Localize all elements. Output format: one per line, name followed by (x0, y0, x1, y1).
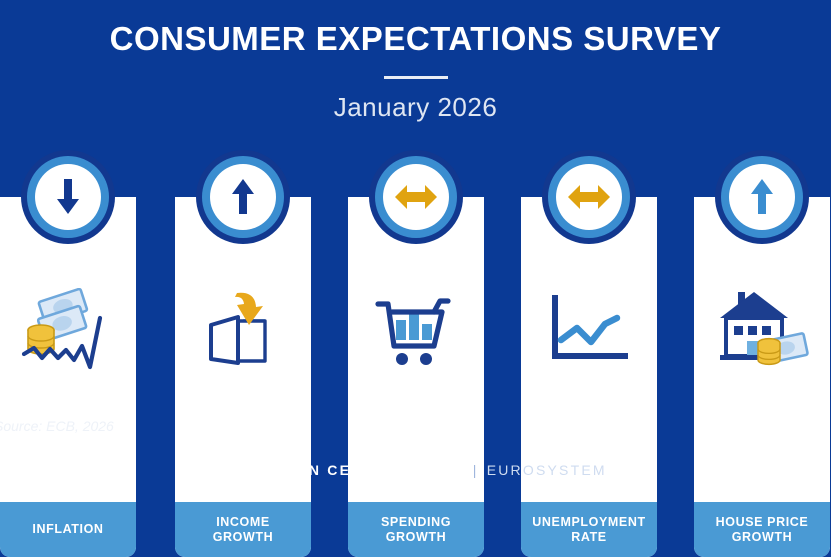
card-label-unemployment-rate: UNEMPLOYMENT RATE (521, 502, 657, 557)
card-label-line1: INFLATION (32, 522, 103, 537)
card-label-line2: GROWTH (213, 530, 274, 545)
badge-arrow-down (21, 150, 115, 244)
card-house-price-growth[interactable]: HOUSE PRICE GROWTH (694, 197, 830, 557)
card-label-spending-growth: SPENDING GROWTH (348, 502, 484, 557)
card-label-inflation: INFLATION (0, 502, 136, 557)
footer: EUROPEAN CENTRAL BANK | EUROSYSTEM (0, 462, 831, 478)
icon-unemployment-rate (521, 275, 657, 385)
icon-house-price-growth (694, 275, 830, 385)
card-label-line1: UNEMPLOYMENT (532, 515, 645, 530)
card-label-line2: GROWTH (386, 530, 447, 545)
badge-arrow-left-right (369, 150, 463, 244)
line-chart-axes-icon (547, 294, 631, 366)
footer-separator: | (471, 462, 481, 478)
card-label-line2: RATE (571, 530, 607, 545)
card-label-line1: INCOME (216, 515, 270, 530)
footer-organisation: EUROPEAN CENTRAL BANK (224, 462, 464, 478)
coin-stack (758, 339, 780, 365)
title-divider (384, 76, 448, 79)
arrow-left-right-icon (393, 181, 439, 213)
card-label-line2: GROWTH (732, 530, 793, 545)
arrow-left-right-icon (566, 181, 612, 213)
house-money-icon (714, 288, 810, 372)
card-unemployment-rate[interactable]: UNEMPLOYMENT RATE (521, 197, 657, 557)
banknotes-coins-chart-icon (20, 288, 116, 372)
badge-arrow-left-right (542, 150, 636, 244)
shopping-cart-bars-icon (372, 290, 460, 370)
icon-spending-growth (348, 275, 484, 385)
card-income-growth[interactable]: INCOME GROWTH (175, 197, 311, 557)
arrow-down-icon (51, 177, 85, 217)
card-label-line1: HOUSE PRICE (716, 515, 809, 530)
card-spending-growth[interactable]: SPENDING GROWTH (348, 197, 484, 557)
badge-arrow-up (715, 150, 809, 244)
wallet-inflow-icon (197, 289, 289, 371)
badge-arrow-up (196, 150, 290, 244)
page-subtitle: January 2026 (0, 92, 831, 123)
card-label-house-price-growth: HOUSE PRICE GROWTH (694, 502, 830, 557)
source-note: Source: ECB, 2026 (0, 418, 114, 434)
card-inflation[interactable]: INFLATION (0, 197, 136, 557)
header: CONSUMER EXPECTATIONS SURVEY January 202… (0, 0, 831, 150)
icon-inflation (0, 275, 136, 385)
icon-income-growth (175, 275, 311, 385)
arrow-up-icon (226, 177, 260, 217)
arrow-up-icon (745, 177, 779, 217)
footer-system: EUROSYSTEM (487, 462, 607, 478)
page-title: CONSUMER EXPECTATIONS SURVEY (0, 20, 831, 58)
card-label-line1: SPENDING (381, 515, 451, 530)
indicator-cards: INFLATION (0, 150, 831, 410)
card-label-income-growth: INCOME GROWTH (175, 502, 311, 557)
